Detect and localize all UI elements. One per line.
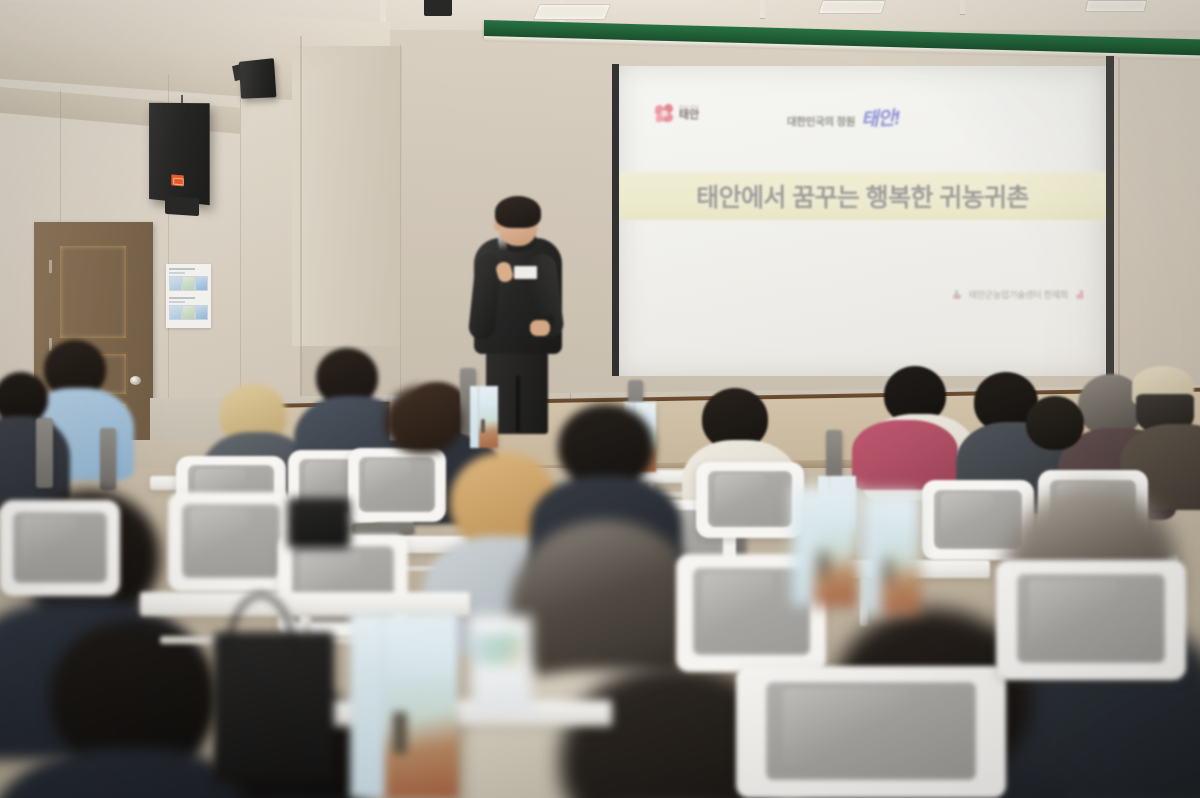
notice-line [169, 301, 185, 303]
ceiling-speaker-icon [424, 0, 452, 16]
slide-title: 태안에서 꿈꾸는 행복한 귀농귀촌 [696, 178, 1029, 214]
door-panel [58, 244, 128, 340]
sprout-icon [951, 290, 963, 300]
screen-frame-right [1106, 56, 1114, 376]
slide-logo: 충남 태안 태안 [655, 104, 699, 123]
wall-seam [400, 44, 401, 444]
gift-bag [470, 386, 498, 448]
bag-photo-print [814, 527, 860, 606]
chair-mesh [1017, 574, 1165, 663]
presenter-right-hand [530, 320, 550, 336]
chair-mesh [359, 457, 435, 512]
slide-footer-text: 태안군농업기술센터 한재희 [969, 288, 1068, 301]
desk-divider-panel [36, 418, 53, 488]
notice-line [169, 268, 195, 270]
chair[interactable] [0, 500, 120, 596]
wall-speaker-icon [149, 103, 210, 205]
notice-line [169, 297, 195, 299]
brochure-image [474, 633, 522, 664]
door-hinge [49, 260, 52, 273]
wall-notice-board [166, 264, 211, 328]
brochure [470, 616, 532, 712]
ceiling-light [1085, 0, 1148, 12]
notice-thumb [169, 305, 182, 320]
notice-thumb [182, 276, 195, 291]
notice-row [169, 268, 208, 294]
bag-handle [474, 386, 496, 396]
chair[interactable] [996, 560, 1186, 680]
chair-mesh [13, 512, 107, 583]
wall-seam [300, 36, 302, 456]
wall-pillar [292, 46, 402, 346]
presenter-hair [495, 196, 541, 228]
slide-tagline: 대한민국의 정원 태안! [787, 104, 899, 131]
ceiling-beam [760, 0, 765, 18]
seminar-room-photo: 충남 태안 태안 대한민국의 정원 태안! 태안에서 꿈꾸는 행복한 귀농귀촌 … [0, 0, 1200, 798]
desk-divider-panel [100, 428, 116, 490]
notice-row [169, 297, 208, 323]
flower-icon [1074, 290, 1086, 300]
speaker-arm [232, 64, 243, 81]
chair[interactable] [348, 448, 446, 522]
bag-handle [802, 486, 850, 504]
notice-line [169, 272, 185, 274]
chair[interactable] [696, 462, 804, 538]
slide-tagline-text: 대한민국의 정원 [787, 114, 855, 129]
projection-screen: 충남 태안 태안 대한민국의 정원 태안! 태안에서 꿈꾸는 행복한 귀농귀촌 … [612, 56, 1114, 376]
ceiling-light [818, 0, 887, 14]
chair[interactable] [168, 492, 294, 592]
screen-surface: 충남 태안 태안 대한민국의 정원 태안! 태안에서 꿈꾸는 행복한 귀농귀촌 … [619, 66, 1106, 376]
head [1026, 396, 1084, 450]
shoulder-bag [214, 632, 334, 782]
slide-footer: 태안군농업기술센터 한재희 [951, 288, 1086, 301]
gift-bag [862, 492, 920, 614]
chair-mesh [708, 471, 792, 527]
screen-frame-left [612, 64, 619, 376]
notice-thumb [195, 305, 208, 320]
gift-bag [350, 612, 458, 798]
door-knob[interactable] [130, 376, 141, 385]
ceiling-beam [960, 0, 965, 14]
bag-photo-print [479, 407, 498, 448]
slide-logo-text: 충남 태안 태안 [679, 106, 699, 122]
presenter-leg-gap [516, 376, 520, 432]
bag-photo-print [385, 675, 458, 798]
speaker-brand-logo [171, 174, 183, 186]
shoulder-bag [288, 498, 350, 548]
chair-mesh [182, 504, 280, 578]
ceiling-light [533, 4, 611, 20]
bag-crease [382, 612, 383, 798]
bag-photo-print [881, 533, 920, 614]
slide-title-band: 태안에서 꿈꾸는 행복한 귀농귀촌 [619, 172, 1106, 220]
wall-speaker-small-icon [239, 58, 277, 99]
slide-logo-main-text: 태안 [679, 110, 699, 121]
chair[interactable] [736, 666, 1006, 798]
taean-flower-logo-icon [655, 104, 674, 123]
notice-thumb [182, 305, 195, 320]
head [384, 386, 462, 454]
chair-mesh [766, 682, 977, 780]
slide: 충남 태안 태안 대한민국의 정원 태안! 태안에서 꿈꾸는 행복한 귀농귀촌 … [619, 66, 1106, 376]
presenter-name-badge [514, 266, 537, 279]
speaker-mount-bracket [165, 196, 199, 216]
notice-thumb [169, 276, 182, 291]
bag-handle [365, 612, 438, 638]
slide-tagline-brand: 태안! [860, 103, 900, 132]
gift-bag [792, 486, 860, 606]
notice-thumb [195, 276, 208, 291]
